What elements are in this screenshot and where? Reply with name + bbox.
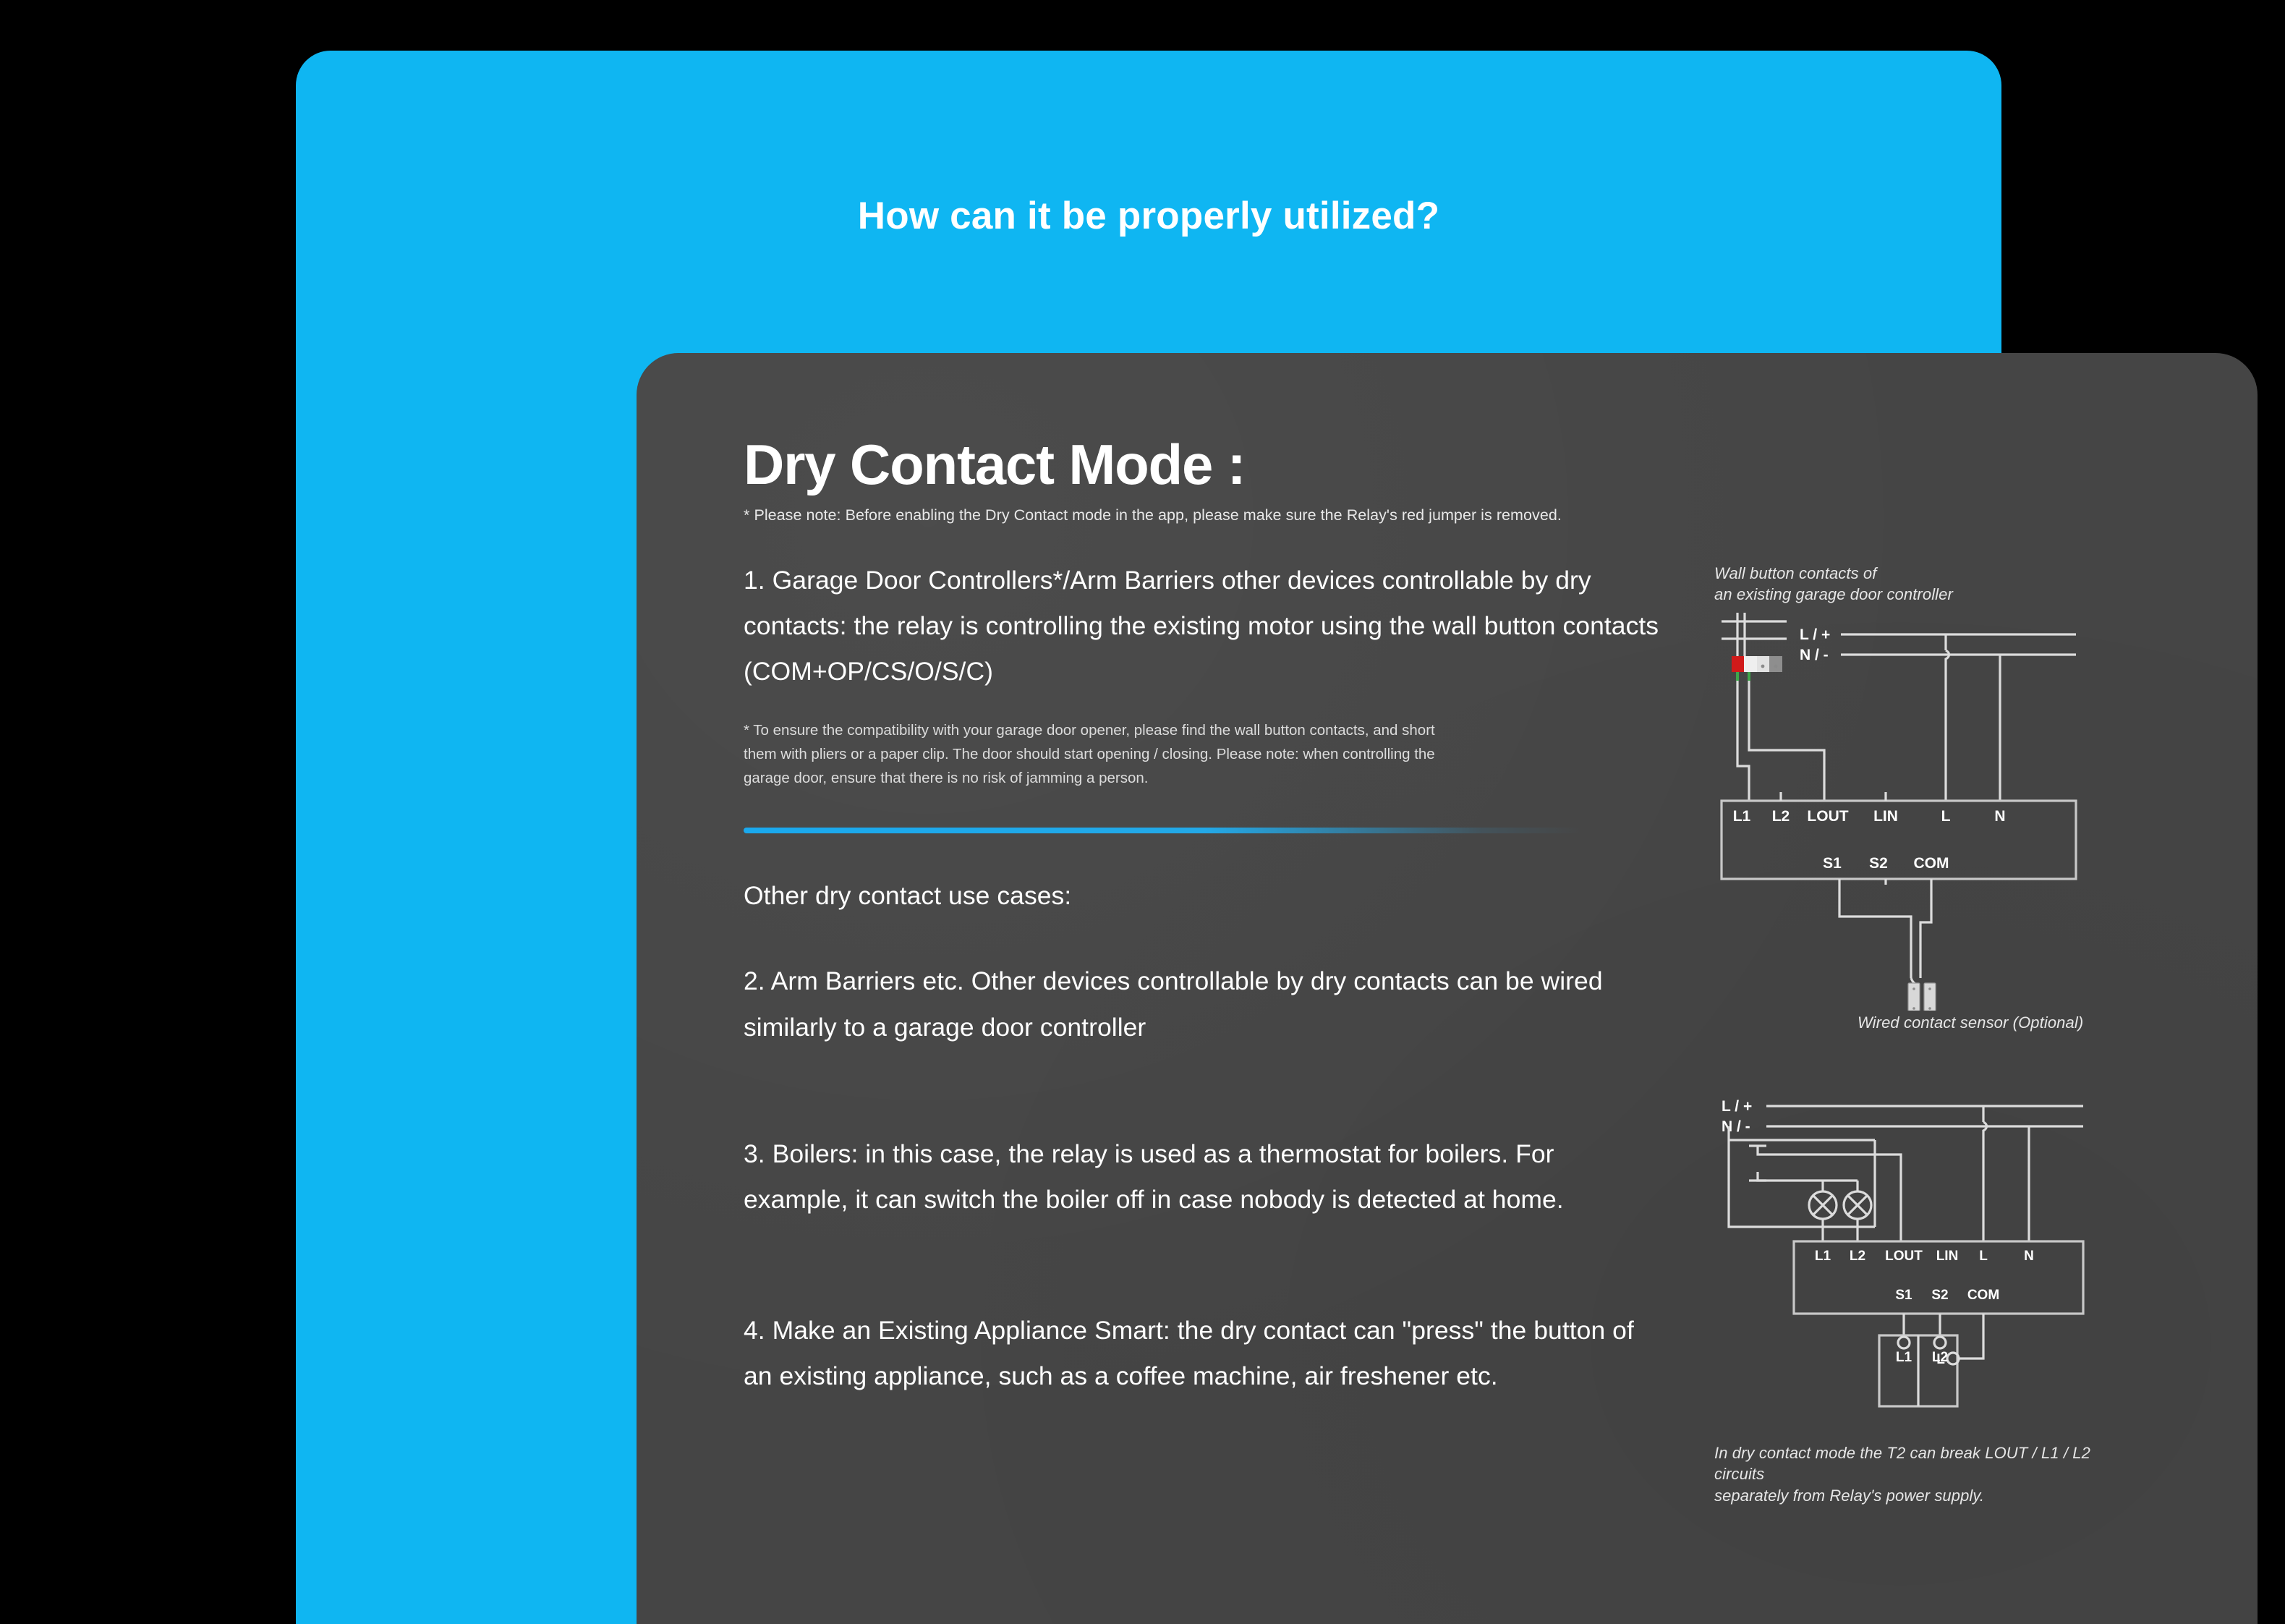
diagram-1-terminal-l2: L2 <box>1772 808 1790 825</box>
diagram-2-terminal-s2: S2 <box>1931 1288 1948 1303</box>
diagram-2-label-l-plus: L / + <box>1722 1098 1752 1115</box>
screenshot-root: How can it be properly utilized? Dry Con… <box>0 0 2285 1624</box>
diagram-1-terminal-s1: S1 <box>1823 855 1842 872</box>
diagram-1-caption-line-2: an existing garage door controller <box>1714 584 2119 605</box>
wiring-diagram-boiler: L / + N / - <box>1714 1091 2119 1506</box>
wiring-diagram-garage-door: Wall button contacts of an existing gara… <box>1714 563 2119 1033</box>
diagram-1-svg: L / + N / - L1 <box>1714 605 2105 1011</box>
diagram-1-terminal-n: N <box>1994 808 2005 825</box>
diagram-1-terminal-lin: LIN <box>1873 808 1898 825</box>
diagram-2-svg: L / + N / - <box>1714 1091 2105 1438</box>
blue-outer-card: How can it be properly utilized? Dry Con… <box>296 51 2001 1624</box>
lamp-symbol-l1 <box>1809 1191 1837 1219</box>
diagram-1-terminal-l1: L1 <box>1733 808 1751 825</box>
diagram-1-label-n-minus: N / - <box>1800 647 1829 663</box>
diagram-2-terminal-l: L <box>1979 1249 1988 1264</box>
diagram-1-terminal-lout: LOUT <box>1807 808 1848 825</box>
diagram-1-caption-line-1: Wall button contacts of <box>1714 563 2119 584</box>
diagram-2-terminal-l2: L2 <box>1850 1249 1865 1264</box>
relay-jumper-block <box>1732 656 1782 681</box>
diagram-1-terminal-l: L <box>1941 808 1951 825</box>
section-divider <box>744 828 1583 833</box>
diagram-2-terminal-n: N <box>2024 1249 2034 1264</box>
text-column: Dry Contact Mode : * Please note: Before… <box>744 436 1662 1399</box>
diagram-2-terminal-lin: LIN <box>1936 1249 1959 1264</box>
other-use-cases-heading: Other dry contact use cases: <box>744 873 1662 919</box>
compatibility-fineprint: * To ensure the compatibility with your … <box>744 718 1467 791</box>
diagram-2-caption-bottom: In dry contact mode the T2 can break LOU… <box>1714 1442 2119 1506</box>
dark-content-card: Dry Contact Mode : * Please note: Before… <box>637 353 2258 1624</box>
diagram-1-terminal-s2: S2 <box>1869 855 1888 872</box>
wired-contact-sensor-icon <box>1908 983 1936 1011</box>
diagram-2-terminal-l1: L1 <box>1815 1249 1831 1264</box>
diagram-2-caption-line-2: separately from Relay's power supply. <box>1714 1485 2119 1506</box>
diagram-1-terminal-com: COM <box>1914 855 1949 872</box>
please-note-text: * Please note: Before enabling the Dry C… <box>744 506 1662 524</box>
diagram-2-label-n-minus: N / - <box>1722 1118 1750 1135</box>
diagram-column: Wall button contacts of an existing gara… <box>1714 353 2250 1624</box>
diagram-2-terminal-com: COM <box>1967 1288 1999 1303</box>
use-case-item-4: 4. Make an Existing Appliance Smart: the… <box>744 1308 1662 1399</box>
diagram-2-switch-label-l: L <box>1936 1352 1945 1367</box>
diagram-2-terminal-lout: LOUT <box>1885 1249 1923 1264</box>
diagram-1-caption-bottom: Wired contact sensor (Optional) <box>1858 1012 2119 1033</box>
use-case-item-3: 3. Boilers: in this case, the relay is u… <box>744 1131 1662 1223</box>
diagram-1-caption-top: Wall button contacts of an existing gara… <box>1714 563 2119 605</box>
section-title: Dry Contact Mode : <box>744 436 1662 493</box>
lamp-symbol-l2 <box>1844 1191 1871 1219</box>
wall-switch-t2: L1 L2 L <box>1879 1335 1959 1406</box>
use-case-item-2: 2. Arm Barriers etc. Other devices contr… <box>744 958 1662 1050</box>
page-title: How can it be properly utilized? <box>296 194 2001 238</box>
diagram-1-label-l-plus: L / + <box>1800 626 1830 643</box>
use-case-item-1: 1. Garage Door Controllers*/Arm Barriers… <box>744 558 1662 695</box>
diagram-2-caption-line-1: In dry contact mode the T2 can break LOU… <box>1714 1442 2119 1485</box>
diagram-2-terminal-s1: S1 <box>1895 1288 1912 1303</box>
diagram-2-switch-label-l1: L1 <box>1896 1350 1912 1365</box>
